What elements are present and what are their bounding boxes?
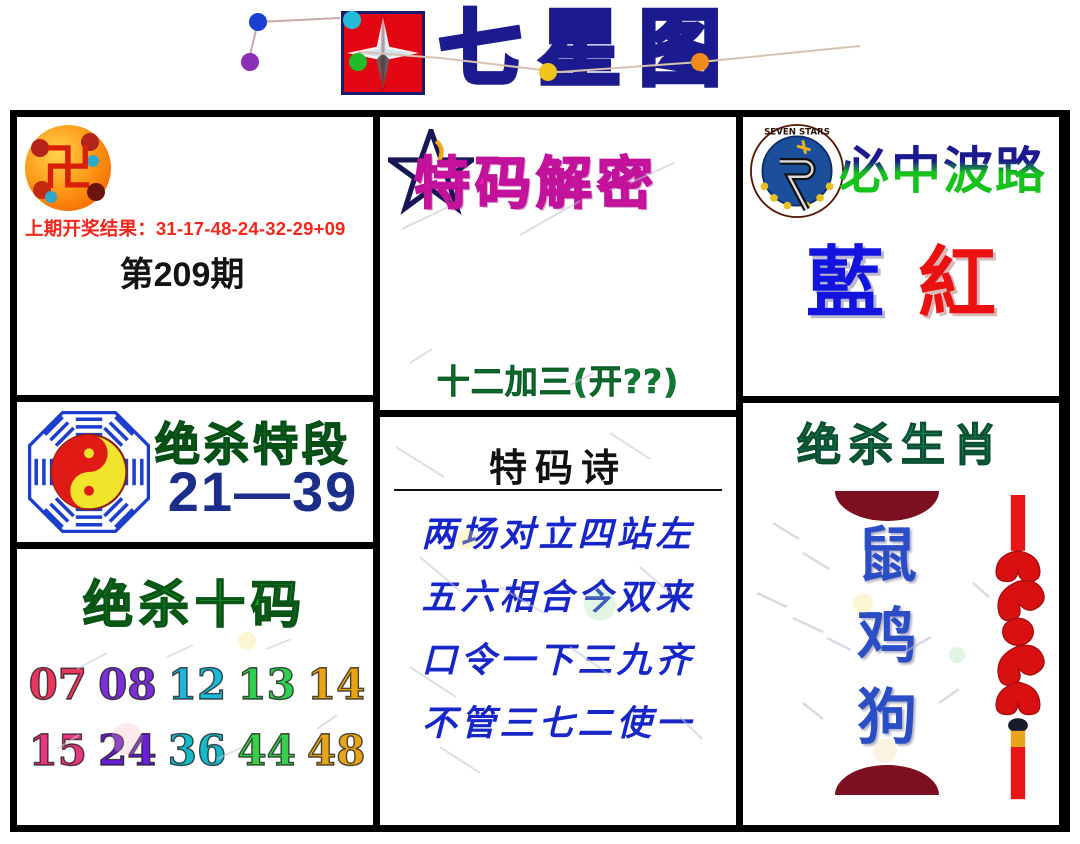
right-column: SEVEN STARS 必中波路 藍 紅 绝杀生肖 (743, 117, 1059, 825)
jiemi-title: 特码解密 (414, 139, 736, 220)
shi-line: 不管三七二使一 (388, 692, 728, 755)
shima-number: 36 (162, 723, 232, 780)
shima-number: 12 (162, 657, 232, 714)
shima-number: 08 (93, 657, 163, 714)
chinese-knot-icon (991, 489, 1045, 807)
arc-bottom-decor (835, 765, 939, 795)
bolu-color-blue: 藍 (806, 245, 884, 323)
shengxiao-list: 鼠 鸡 狗 (835, 519, 939, 756)
bolu-title: 必中波路 (839, 131, 1059, 203)
middle-column: 特码解密 十二加三(开??) 特码诗 两场对立四站左 五六相合今双来 口令一下三… (380, 117, 736, 825)
shi-line: 两场对立四站左 (388, 503, 728, 566)
shi-divider (394, 489, 722, 491)
shima-panel: 绝杀十码 07 08 12 13 14 15 24 36 44 48 (17, 549, 373, 825)
shengxiao-panel: 绝杀生肖 鼠 鸡 狗 (743, 403, 1059, 825)
shengxiao-title: 绝杀生肖 (743, 409, 1059, 473)
shi-panel: 特码诗 两场对立四站左 五六相合今双来 口令一下三九齐 不管三七二使一 (380, 417, 736, 825)
page-root: 七星图 卍 (0, 0, 1080, 844)
teduan-range: 21—39 (155, 464, 371, 520)
svg-text:SEVEN STARS: SEVEN STARS (764, 128, 830, 138)
shi-title: 特码诗 (380, 437, 736, 492)
masthead: 七星图 (0, 0, 1080, 106)
jiemi-panel: 特码解密 十二加三(开??) (380, 117, 736, 410)
shima-number: 13 (232, 657, 302, 714)
shima-title: 绝杀十码 (17, 565, 373, 637)
shima-number: 48 (301, 723, 371, 780)
shi-lines: 两场对立四站左 五六相合今双来 口令一下三九齐 不管三七二使一 (388, 503, 728, 755)
shengxiao-item: 鸡 (857, 600, 917, 675)
left-column: 卍 上期开奖结果：31-17-48-24-32-29+09 第209期 (17, 117, 373, 825)
bolu-color-list: 藍 紅 (743, 245, 1059, 323)
jiemi-subtitle: 十二加三(开??) (380, 355, 736, 403)
shima-number: 07 (23, 657, 93, 714)
shengxiao-item: 狗 (857, 681, 917, 756)
swastika-glyph: 卍 (43, 143, 93, 193)
red-star-square-logo (341, 11, 425, 95)
last-draw-result: 上期开奖结果：31-17-48-24-32-29+09 (25, 215, 373, 241)
bagua-yinyang-icon (23, 406, 155, 538)
shima-number-grid: 07 08 12 13 14 15 24 36 44 48 (23, 657, 371, 780)
shi-line: 口令一下三九齐 (388, 629, 728, 692)
shima-number: 44 (232, 723, 302, 780)
shima-number: 24 (93, 723, 163, 780)
page-title: 七星图 (439, 9, 739, 97)
orange-swastika-badge: 卍 (25, 125, 111, 211)
bolu-panel: SEVEN STARS 必中波路 藍 紅 (743, 117, 1059, 396)
shima-number: 14 (301, 657, 371, 714)
shima-number: 15 (23, 723, 93, 780)
bolu-color-red: 紅 (918, 245, 996, 323)
seven-stars-badge: SEVEN STARS (749, 123, 845, 219)
teduan-panel: 绝杀特段 21—39 (17, 402, 373, 541)
issue-number: 第209期 (17, 247, 347, 296)
shengxiao-box: 鼠 鸡 狗 (835, 491, 939, 795)
shi-line: 五六相合今双来 (388, 566, 728, 629)
four-point-star-icon (344, 14, 422, 92)
results-panel: 卍 上期开奖结果：31-17-48-24-32-29+09 第209期 (17, 117, 373, 395)
arc-top-decor (835, 491, 939, 521)
shengxiao-item: 鼠 (857, 519, 917, 594)
content-frame: 卍 上期开奖结果：31-17-48-24-32-29+09 第209期 (10, 110, 1070, 832)
